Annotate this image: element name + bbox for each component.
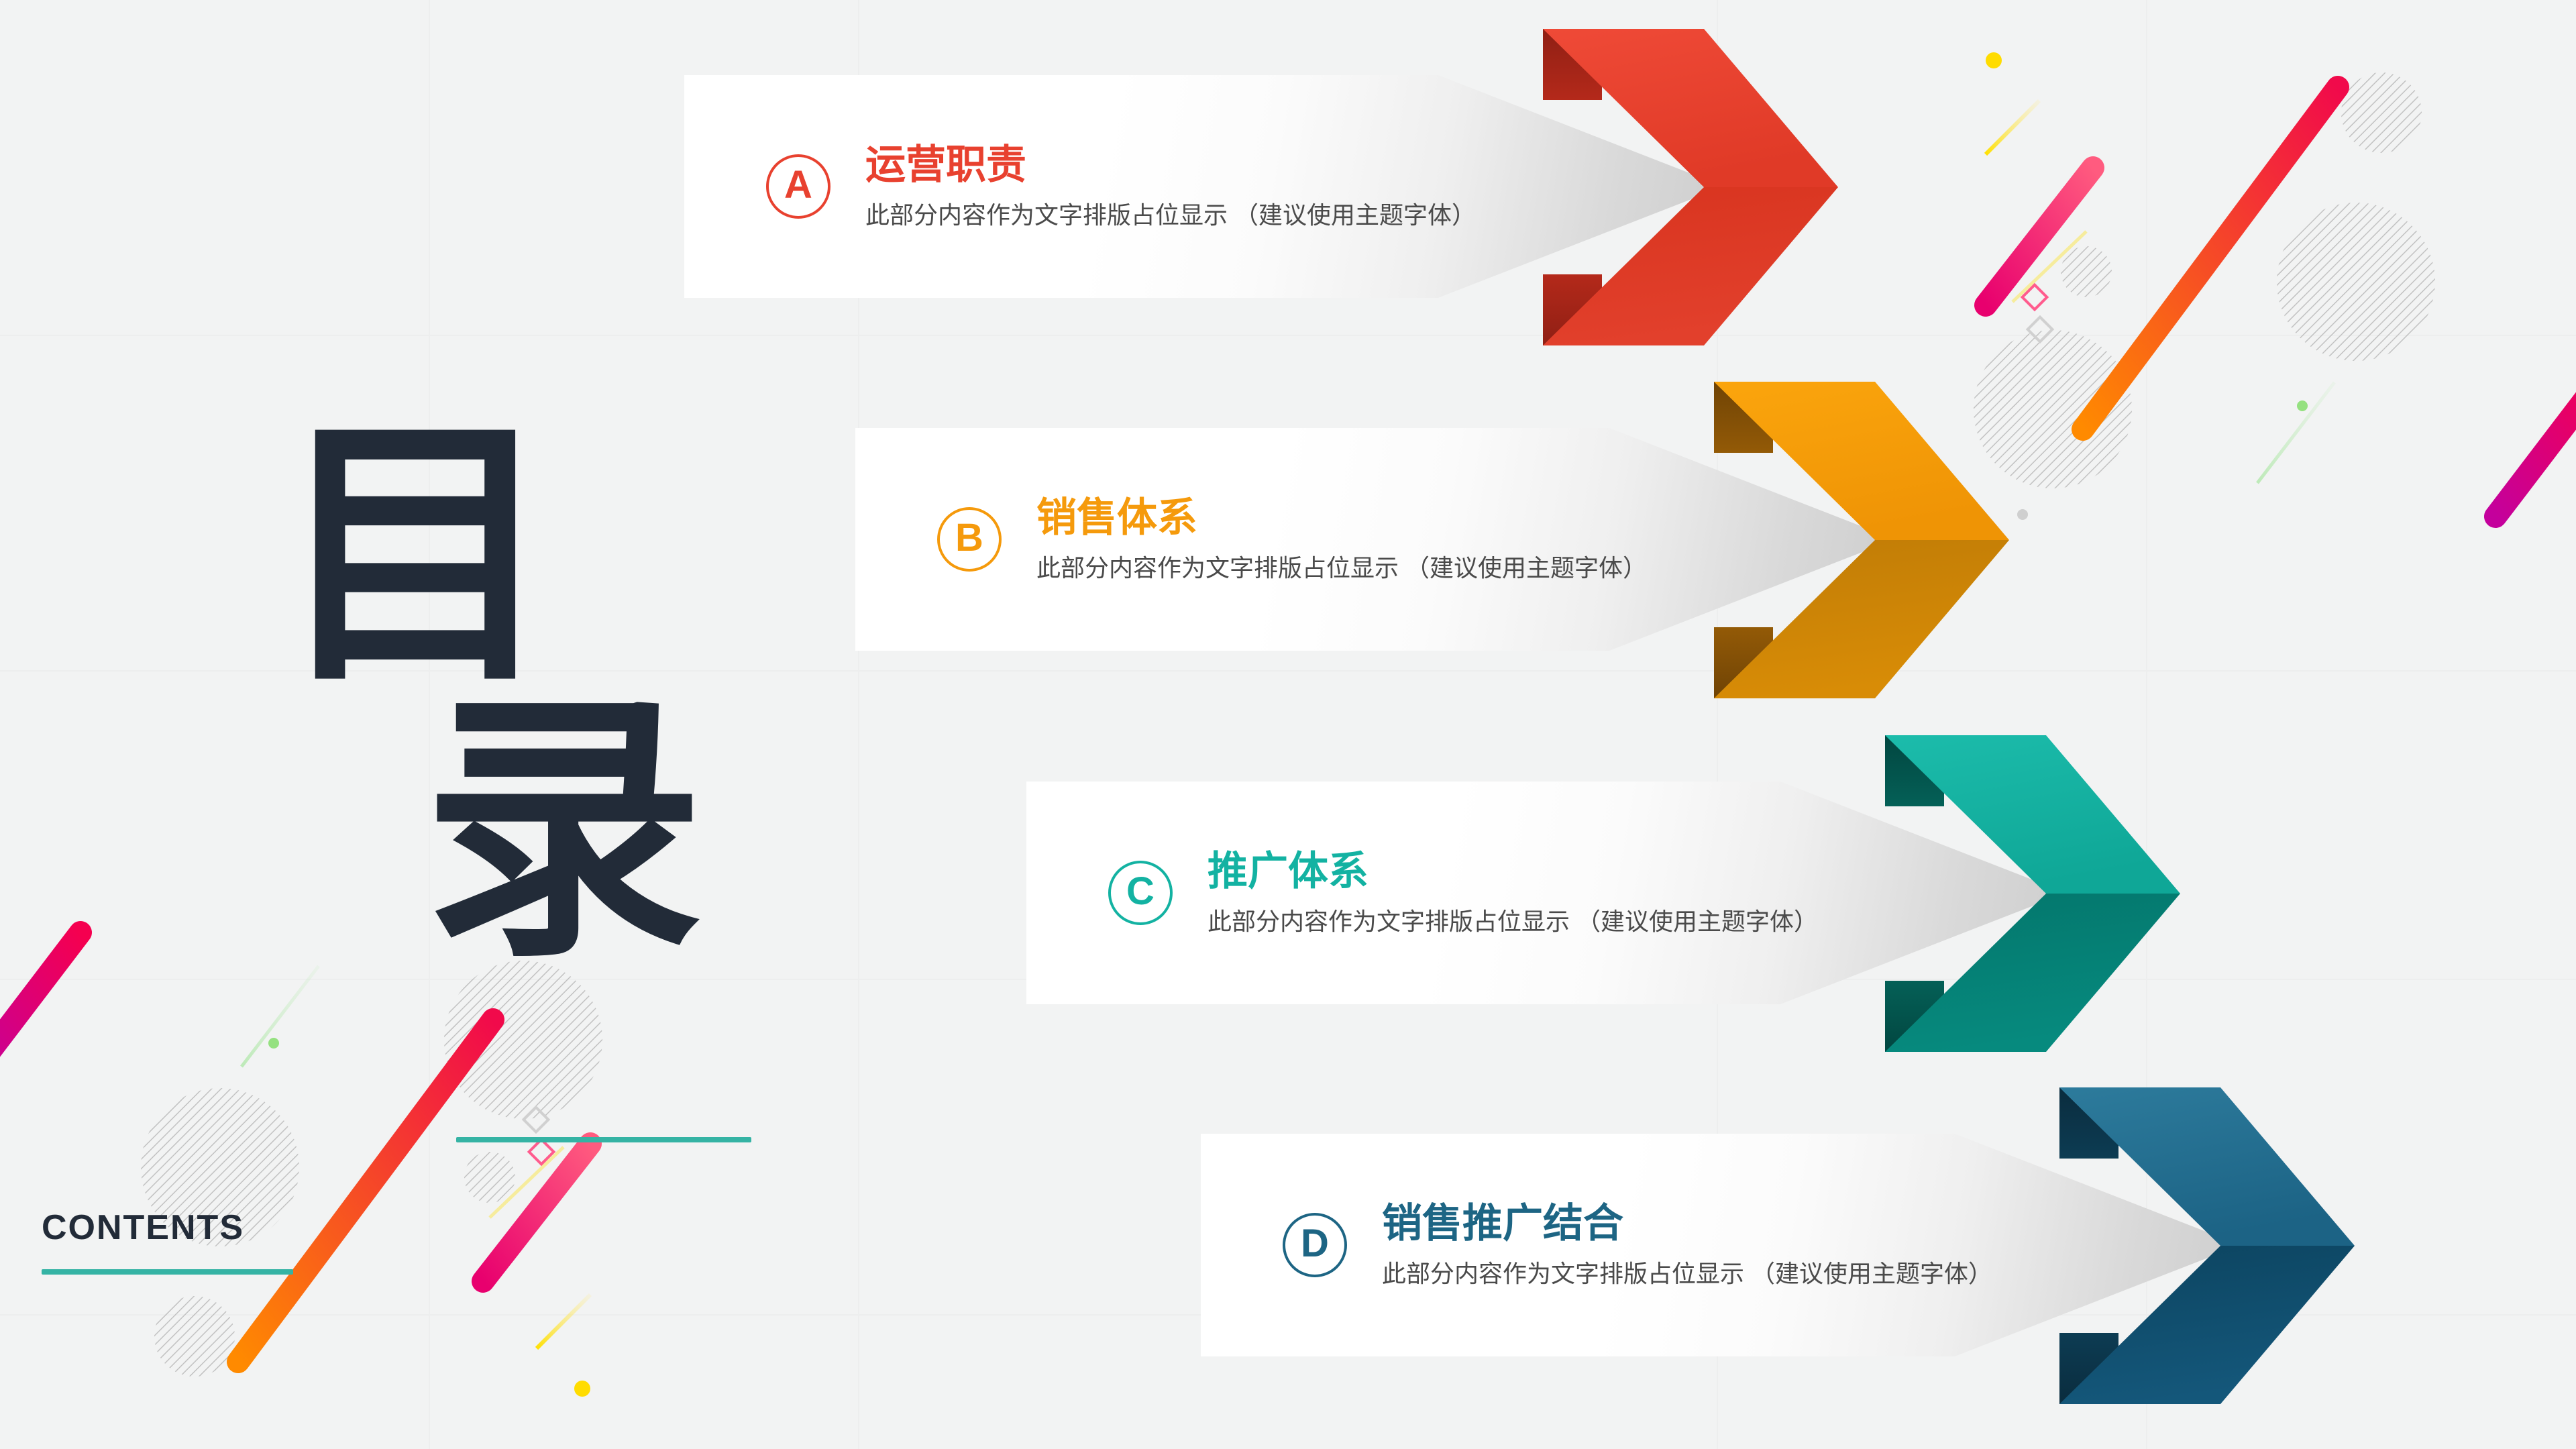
toc-title-c: 推广体系 <box>1207 850 1818 892</box>
toc-card-body-d: D 销售推广结合 此部分内容作为文字排版占位显示 （建议使用主题字体） <box>1201 1134 1952 1356</box>
contents-label: CONTENTS <box>42 1207 244 1248</box>
badge-b: B <box>937 507 1002 572</box>
toc-texts-a: 运营职责 此部分内容作为文字排版占位显示 （建议使用主题字体） <box>865 144 1476 229</box>
toc-card-body-a: A 运营职责 此部分内容作为文字排版占位显示 （建议使用主题字体） <box>684 75 1436 298</box>
chevron-ribbon-c <box>1845 718 2194 1067</box>
badge-d: D <box>1283 1213 1347 1277</box>
teal-rule-under-contents <box>42 1269 293 1275</box>
toc-title-d: 销售推广结合 <box>1382 1202 1992 1244</box>
badge-letter-d: D <box>1301 1224 1329 1263</box>
toc-desc-c: 此部分内容作为文字排版占位显示 （建议使用主题字体） <box>1207 907 1818 936</box>
toc-desc-d: 此部分内容作为文字排版占位显示 （建议使用主题字体） <box>1382 1259 1992 1288</box>
teal-rule-beside-title <box>456 1137 751 1142</box>
toc-title-b: 销售体系 <box>1036 496 1647 539</box>
toc-texts-d: 销售推广结合 此部分内容作为文字排版占位显示 （建议使用主题字体） <box>1382 1202 1992 1288</box>
chevron-ribbon-a <box>1503 11 1851 360</box>
badge-c: C <box>1108 861 1173 925</box>
chevron-ribbon-b <box>1674 364 2023 713</box>
deco-cluster-top-right <box>1974 52 2576 520</box>
toc-title-block: 目 录 CONTENTS <box>80 443 792 1006</box>
toc-texts-c: 推广体系 此部分内容作为文字排版占位显示 （建议使用主题字体） <box>1207 850 1818 936</box>
toc-card-body-b: B 销售体系 此部分内容作为文字排版占位显示 （建议使用主题字体） <box>855 428 1607 651</box>
badge-letter-a: A <box>784 166 812 205</box>
slide-canvas: 目 录 CONTENTS <box>0 0 2576 1449</box>
toc-texts-b: 销售体系 此部分内容作为文字排版占位显示 （建议使用主题字体） <box>1036 496 1647 582</box>
toc-desc-a: 此部分内容作为文字排版占位显示 （建议使用主题字体） <box>865 201 1476 229</box>
title-char-lu: 录 <box>423 691 704 973</box>
toc-card-body-c: C 推广体系 此部分内容作为文字排版占位显示 （建议使用主题字体） <box>1026 782 1778 1004</box>
toc-title-a: 运营职责 <box>865 144 1476 186</box>
badge-letter-b: B <box>955 519 983 557</box>
badge-letter-c: C <box>1126 872 1155 911</box>
chevron-ribbon-d <box>2019 1070 2368 1419</box>
title-char-mu: 目 <box>275 416 557 698</box>
toc-desc-b: 此部分内容作为文字排版占位显示 （建议使用主题字体） <box>1036 553 1647 582</box>
badge-a: A <box>766 154 830 219</box>
